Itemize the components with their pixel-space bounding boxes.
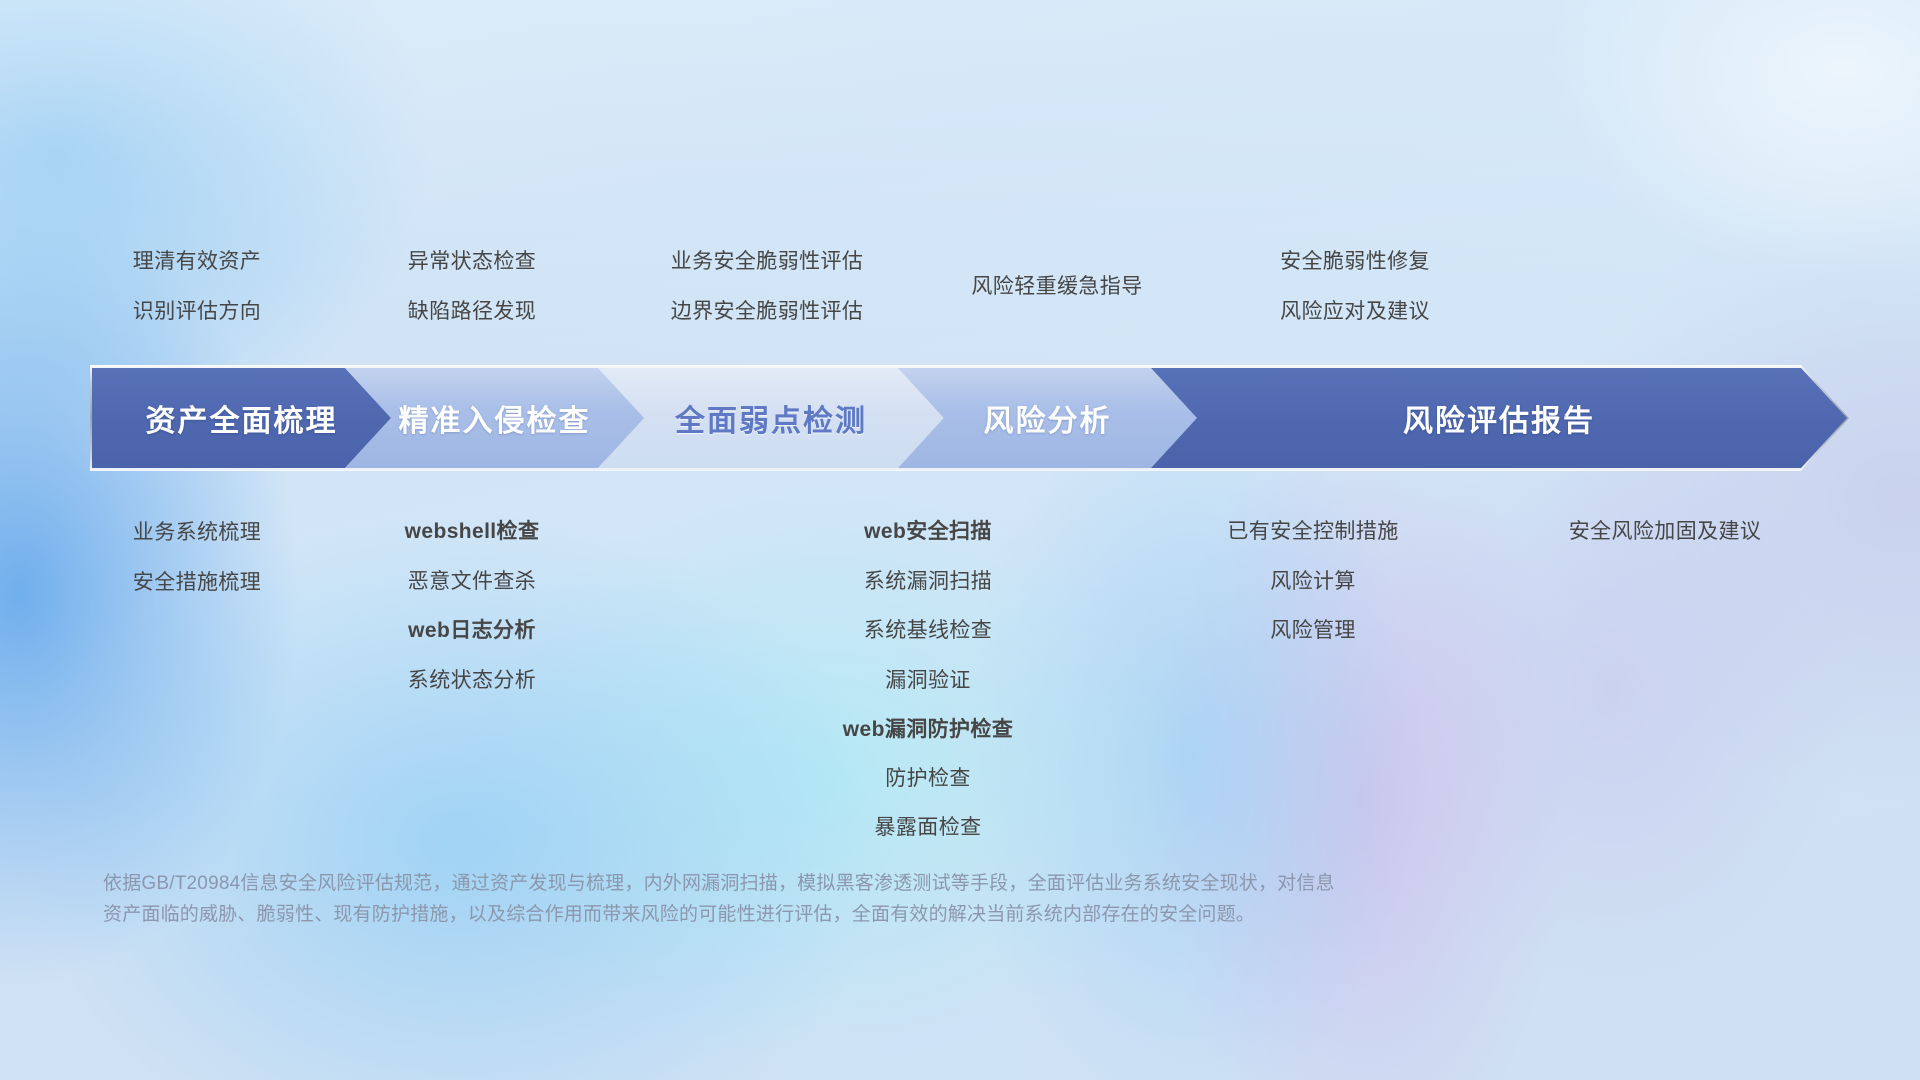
- bottom-item: web漏洞防护检查: [843, 719, 1013, 740]
- top-item: 理清有效资产: [133, 251, 261, 272]
- footnote-line: 依据GB/T20984信息安全风险评估规范，通过资产发现与梳理，内外网漏洞扫描，…: [103, 868, 1633, 899]
- bottom-item: 防护检查: [885, 768, 971, 789]
- bottom-item: 暴露面检查: [875, 817, 982, 838]
- bottom-item: 漏洞验证: [885, 670, 971, 691]
- top-item: 业务安全脆弱性评估: [671, 251, 864, 272]
- top-item: 风险应对及建议: [1280, 301, 1430, 322]
- bottom-item: webshell检查: [405, 521, 540, 542]
- process-arrow-banner: 资产全面梳理 精准入侵检查 全面弱点检测 风险分析 风险评估报告: [0, 368, 1920, 468]
- bottom-item: 系统漏洞扫描: [864, 571, 992, 592]
- bottom-item: 恶意文件查杀: [408, 571, 536, 592]
- bottom-item: 安全措施梳理: [133, 572, 261, 593]
- stage-label: 精准入侵检查: [399, 396, 591, 440]
- bottom-item: web日志分析: [408, 620, 536, 641]
- top-item: 安全脆弱性修复: [1280, 251, 1430, 272]
- top-item: 异常状态检查: [408, 251, 536, 272]
- footnote: 依据GB/T20984信息安全风险评估规范，通过资产发现与梳理，内外网漏洞扫描，…: [103, 868, 1633, 930]
- process-stage-weakness-detection[interactable]: 全面弱点检测: [598, 368, 944, 468]
- top-item: 边界安全脆弱性评估: [671, 301, 864, 322]
- footnote-line: 资产面临的威胁、脆弱性、现有防护措施，以及综合作用而带来风险的可能性进行评估，全…: [103, 899, 1633, 930]
- top-item: 缺陷路径发现: [408, 301, 536, 322]
- bottom-item: 安全风险加固及建议: [1569, 521, 1762, 542]
- bottom-item: web安全扫描: [864, 521, 992, 542]
- top-item: 风险轻重缓急指导: [971, 276, 1142, 297]
- process-diagram: 理清有效资产 识别评估方向 异常状态检查 缺陷路径发现 业务安全脆弱性评估 边界…: [0, 0, 1920, 1080]
- bottom-item: 系统状态分析: [408, 670, 536, 691]
- bottom-item: 风险计算: [1270, 571, 1356, 592]
- process-stage-risk-report[interactable]: 风险评估报告: [1151, 368, 1847, 468]
- stage-label: 风险分析: [984, 396, 1112, 440]
- bottom-item: 业务系统梳理: [133, 522, 261, 543]
- bottom-item: 系统基线检查: [864, 620, 992, 641]
- top-item: 识别评估方向: [133, 301, 261, 322]
- stage-label: 风险评估报告: [1403, 396, 1595, 440]
- stage-label: 资产全面梳理: [146, 396, 338, 440]
- stage-label: 全面弱点检测: [675, 396, 867, 440]
- bottom-item: 已有安全控制措施: [1227, 521, 1398, 542]
- bottom-item: 风险管理: [1270, 620, 1356, 641]
